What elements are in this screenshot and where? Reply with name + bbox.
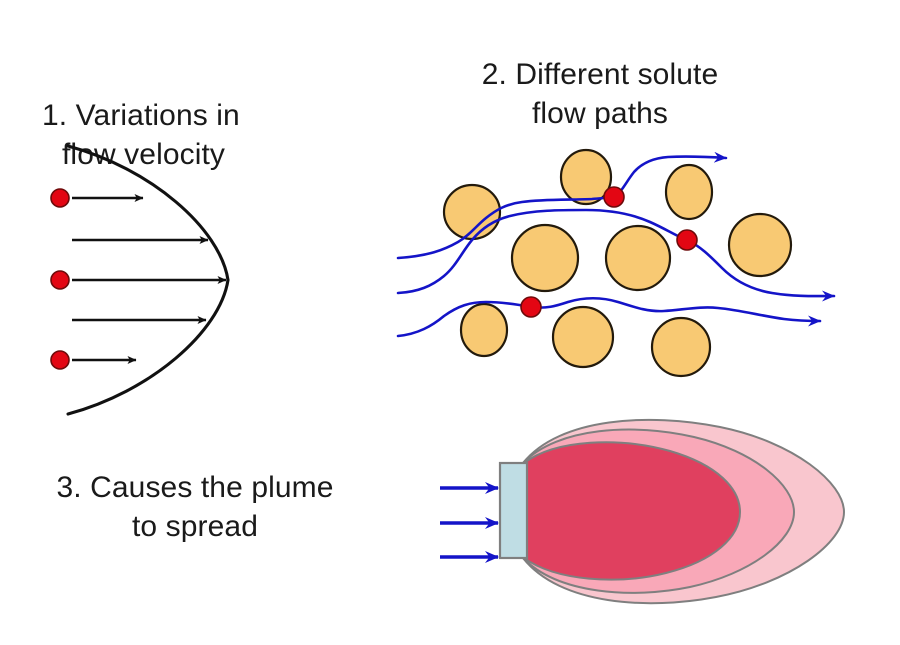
grain-bottom-center bbox=[553, 307, 613, 367]
solute-particle-middle bbox=[51, 271, 69, 289]
grain-bottom-right bbox=[652, 318, 710, 376]
grain-mid-left bbox=[512, 225, 578, 291]
contaminant-source bbox=[500, 463, 527, 558]
velocity-profile-panel bbox=[30, 150, 290, 410]
caption-different-solute-flow-paths: 2. Different solute flow paths bbox=[440, 55, 760, 133]
grain-mid-right bbox=[729, 214, 791, 276]
plume-spreading-panel bbox=[420, 415, 890, 630]
caption-causes-the-plume-to-spread: 3. Causes the plume to spread bbox=[30, 468, 360, 546]
porous-media-flow-paths-panel bbox=[410, 130, 870, 390]
grain-bottom-left bbox=[461, 304, 507, 356]
solute-particle-bottom bbox=[51, 351, 69, 369]
solute-particle-path-b bbox=[677, 230, 697, 250]
caption-1-line-1: 1. Variations in bbox=[42, 99, 240, 132]
grain-top-right bbox=[666, 165, 712, 219]
slide-canvas: 1. Variations in flow velocity 2. Differ… bbox=[0, 0, 900, 645]
solute-particle-path-a bbox=[604, 187, 624, 207]
grain-mid-center bbox=[606, 226, 670, 290]
solute-particle-path-c bbox=[521, 297, 541, 317]
solute-particle-top bbox=[51, 189, 69, 207]
